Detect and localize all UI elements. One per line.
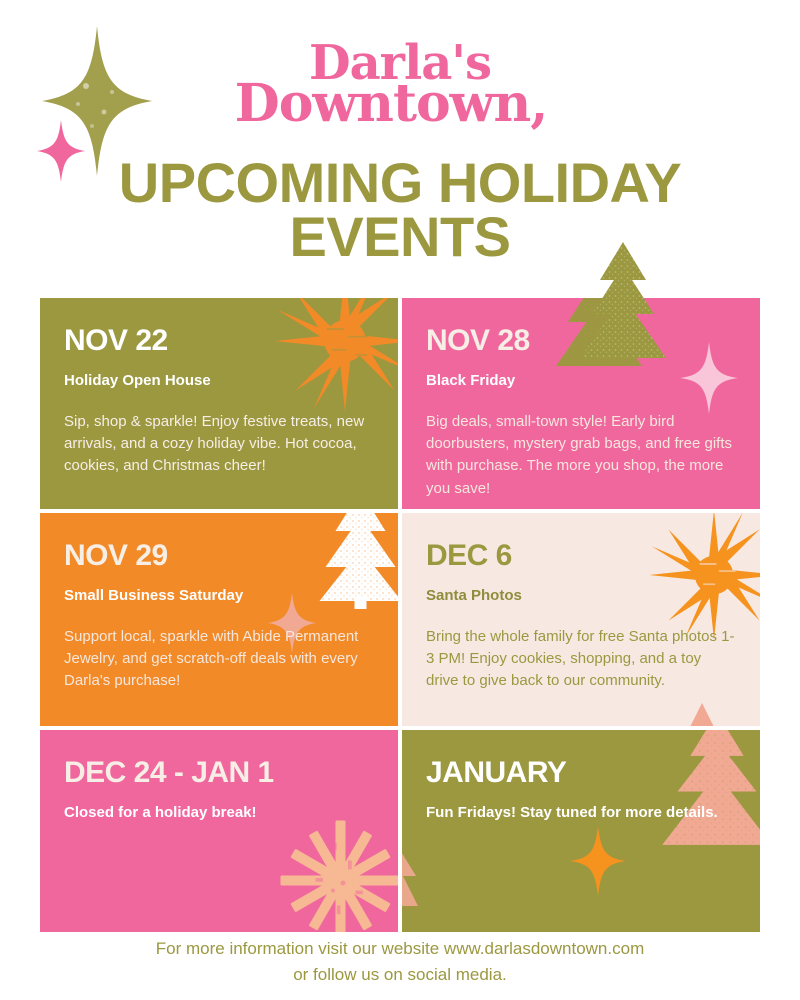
event-date: NOV 29	[64, 539, 374, 573]
tree-salmon-edge-icon	[402, 848, 418, 918]
event-description: Sip, shop & sparkle! Enjoy festive treat…	[64, 411, 374, 478]
tree-salmon-icon	[658, 730, 760, 850]
event-card-dec-6[interactable]: DEC 6 Santa Photos Bring the whole famil…	[402, 513, 760, 726]
footer-line-2: or follow us on social media.	[0, 962, 800, 988]
brand-logo: Darla's Downtown,	[0, 44, 800, 126]
event-date: NOV 22	[64, 324, 374, 358]
logo-line-2: Downtown,	[0, 83, 800, 126]
event-description: Big deals, small-town style! Early bird …	[426, 411, 736, 500]
starburst-orange-icon	[654, 515, 760, 635]
tree-salmon-partial-icon	[680, 699, 724, 726]
event-name: Fun Fridays! Stay tuned for more details…	[426, 804, 736, 821]
poster-header: Darla's Downtown, UPCOMING HOLIDAY EVENT…	[0, 0, 800, 298]
page-title: UPCOMING HOLIDAY EVENTS	[40, 156, 760, 264]
footer-line-1: For more information visit our website w…	[0, 936, 800, 962]
event-name: Small Business Saturday	[64, 587, 374, 604]
starburst-peach-icon	[278, 818, 398, 932]
event-card-nov-22[interactable]: NOV 22 Holiday Open House Sip, shop & sp…	[40, 298, 398, 509]
event-card-nov-28[interactable]: NOV 28 Black Friday Big deals, small-tow…	[402, 298, 760, 509]
event-date: DEC 6	[426, 539, 736, 573]
event-name: Santa Photos	[426, 587, 736, 604]
sparkle-orange-icon	[570, 826, 626, 896]
event-date: JANUARY	[426, 756, 736, 790]
event-name: Black Friday	[426, 372, 736, 389]
event-description: Support local, sparkle with Abide Perman…	[64, 626, 374, 693]
event-description: Bring the whole family for free Santa ph…	[426, 626, 736, 693]
event-card-january[interactable]: JANUARY Fun Fridays! Stay tuned for more…	[402, 730, 760, 932]
event-card-dec-24-jan-1[interactable]: DEC 24 - JAN 1 Closed for a holiday brea…	[40, 730, 398, 932]
event-card-nov-29[interactable]: NOV 29 Small Business Saturday Support l…	[40, 513, 398, 726]
events-grid: NOV 22 Holiday Open House Sip, shop & sp…	[40, 298, 760, 930]
event-name: Closed for a holiday break!	[64, 804, 374, 821]
poster: Darla's Downtown, UPCOMING HOLIDAY EVENT…	[0, 0, 800, 1000]
event-date: DEC 24 - JAN 1	[64, 756, 374, 790]
event-name: Holiday Open House	[64, 372, 374, 389]
footer: For more information visit our website w…	[0, 936, 800, 987]
title-line-2: EVENTS	[40, 210, 760, 264]
event-date: NOV 28	[426, 324, 736, 358]
